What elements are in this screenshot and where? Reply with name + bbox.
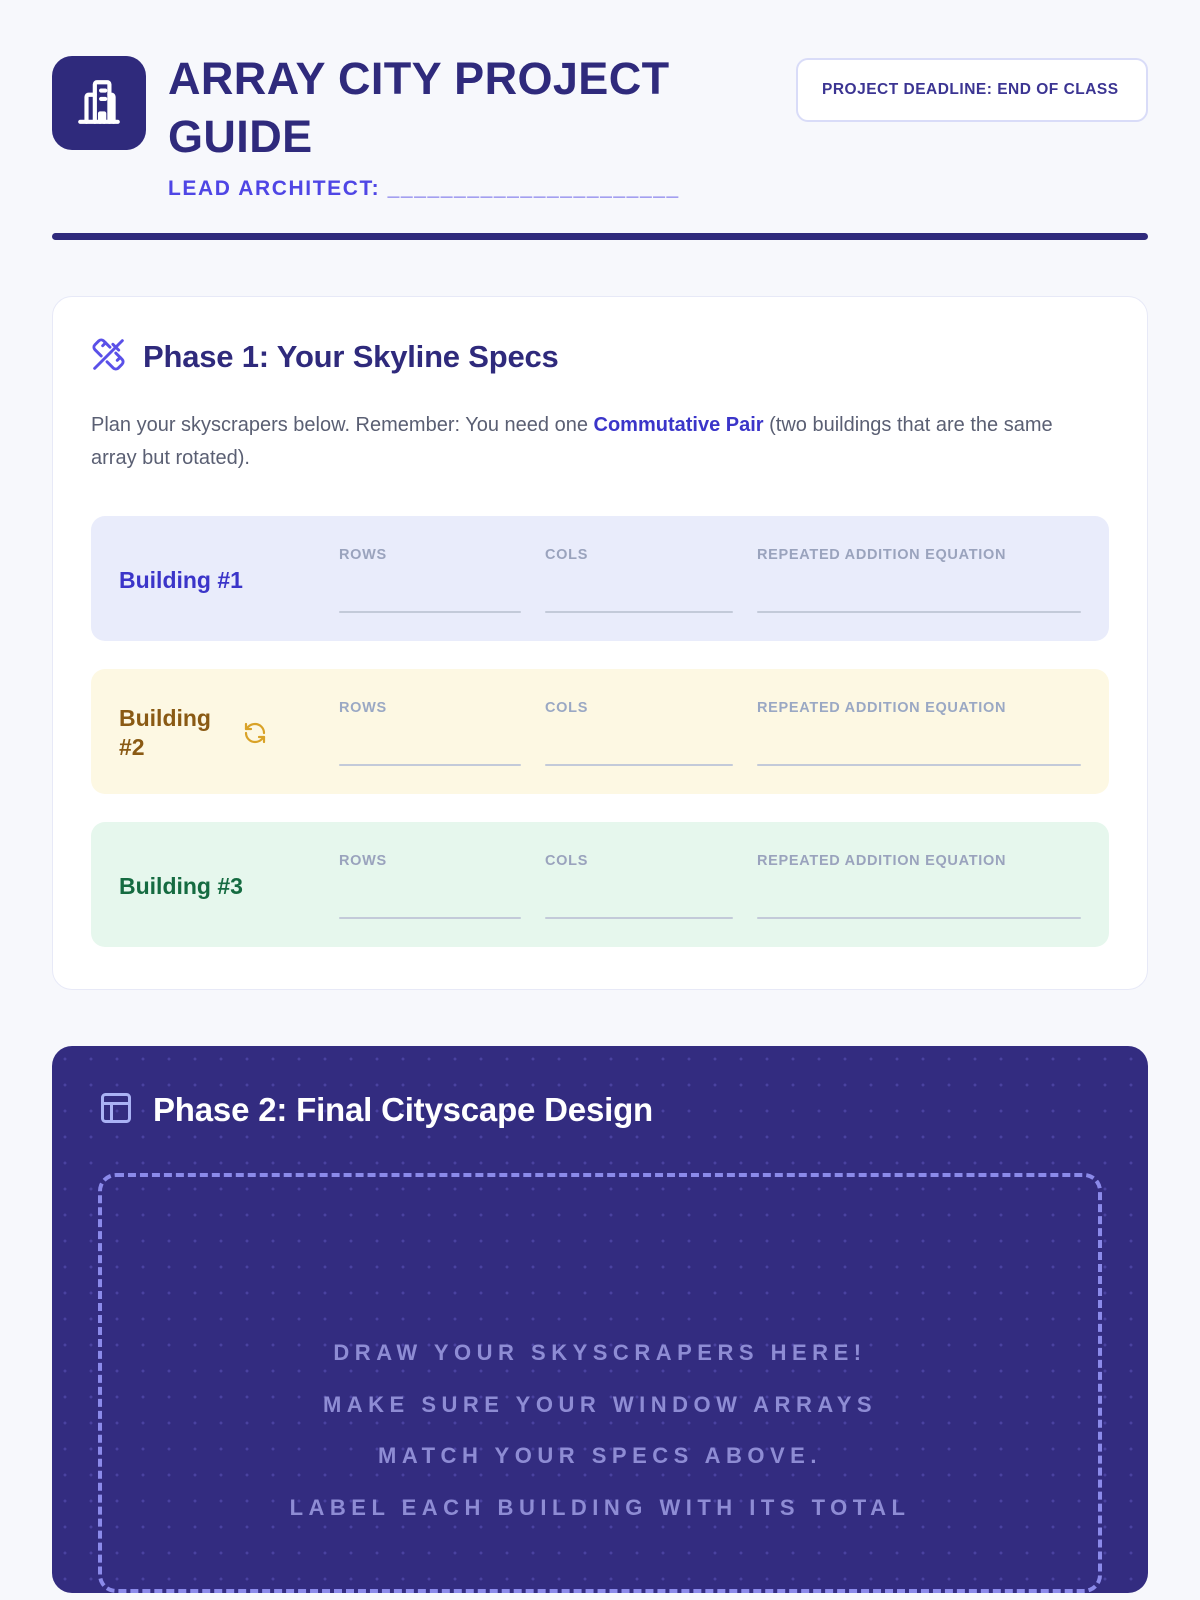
- building-row: Building #3 ROWS COLS REPEATED ADDITION …: [91, 822, 1109, 947]
- cols-input[interactable]: [545, 611, 733, 613]
- equation-label: REPEATED ADDITION EQUATION: [757, 853, 1081, 869]
- building-spec-list: Building #1 ROWS COLS REPEATED ADDITION …: [91, 516, 1109, 947]
- drafting-compass-icon: [91, 337, 126, 377]
- building-name-wrap: Building #1: [119, 566, 339, 596]
- rows-field: ROWS: [339, 547, 521, 613]
- cols-field: COLS: [545, 853, 733, 919]
- rows-label: ROWS: [339, 853, 521, 869]
- building-label: Building #3: [119, 872, 243, 902]
- building-row: Building #2 ROWS: [91, 669, 1109, 794]
- commutative-pair-emphasis: Commutative Pair: [594, 414, 764, 436]
- phase-2-header: Phase 2: Final Cityscape Design: [98, 1090, 1102, 1131]
- cols-input[interactable]: [545, 917, 733, 919]
- phase-1-description: Plan your skyscrapers below. Remember: Y…: [91, 409, 1066, 474]
- page-title: Array City Project Guide: [168, 50, 728, 165]
- cols-input[interactable]: [545, 764, 733, 766]
- refresh-cw-icon[interactable]: [243, 721, 267, 745]
- building-label: Building #2: [119, 704, 229, 764]
- phase-2-title: Phase 2: Final Cityscape Design: [153, 1091, 653, 1129]
- title-block: Array City Project Guide Lead Architect:…: [168, 48, 774, 201]
- drawing-instruction-line: match your specs above.: [142, 1430, 1058, 1482]
- worksheet-page: Array City Project Guide Lead Architect:…: [0, 0, 1200, 1600]
- phase-1-header: Phase 1: Your Skyline Specs: [91, 337, 1109, 377]
- rows-field: ROWS: [339, 700, 521, 766]
- equation-label: REPEATED ADDITION EQUATION: [757, 547, 1081, 563]
- drawing-instruction-line: Label each building with its total: [142, 1482, 1058, 1534]
- drawing-canvas-area[interactable]: Draw your skyscrapers here! Make sure yo…: [98, 1173, 1102, 1593]
- phase-1-card: Phase 1: Your Skyline Specs Plan your sk…: [52, 296, 1148, 990]
- page-header: Array City Project Guide Lead Architect:…: [52, 0, 1148, 201]
- equation-field: REPEATED ADDITION EQUATION: [757, 547, 1081, 613]
- description-part-1: Plan your skyscrapers below. Remember: Y…: [91, 414, 594, 436]
- rows-field: ROWS: [339, 853, 521, 919]
- phase-2-card: Phase 2: Final Cityscape Design Draw you…: [52, 1046, 1148, 1593]
- drawing-instruction-line: Make sure your window arrays: [142, 1379, 1058, 1431]
- equation-field: REPEATED ADDITION EQUATION: [757, 853, 1081, 919]
- equation-label: REPEATED ADDITION EQUATION: [757, 700, 1081, 716]
- drawing-instruction-line: Draw your skyscrapers here!: [142, 1327, 1058, 1379]
- building-fields: ROWS COLS REPEATED ADDITION EQUATION: [339, 547, 1081, 613]
- building-label: Building #1: [119, 566, 243, 596]
- cols-label: COLS: [545, 853, 733, 869]
- deadline-badge: Project Deadline: End of Class: [796, 58, 1148, 122]
- building-name-wrap: Building #2: [119, 704, 339, 764]
- rows-input[interactable]: [339, 917, 521, 919]
- layout-panel-icon: [98, 1090, 134, 1131]
- building-fields: ROWS COLS REPEATED ADDITION EQUATION: [339, 853, 1081, 919]
- building-icon: [74, 76, 124, 131]
- header-divider: [52, 233, 1148, 240]
- building-name-wrap: Building #3: [119, 872, 339, 902]
- logo-badge: [52, 56, 146, 150]
- cols-label: COLS: [545, 547, 733, 563]
- building-fields: ROWS COLS REPEATED ADDITION EQUATION: [339, 700, 1081, 766]
- rows-input[interactable]: [339, 764, 521, 766]
- lead-architect-field[interactable]: Lead Architect: ______________________: [168, 177, 774, 201]
- equation-input[interactable]: [757, 764, 1081, 766]
- cols-field: COLS: [545, 700, 733, 766]
- equation-field: REPEATED ADDITION EQUATION: [757, 700, 1081, 766]
- cols-field: COLS: [545, 547, 733, 613]
- rows-input[interactable]: [339, 611, 521, 613]
- rows-label: ROWS: [339, 547, 521, 563]
- building-row: Building #1 ROWS COLS REPEATED ADDITION …: [91, 516, 1109, 641]
- rows-label: ROWS: [339, 700, 521, 716]
- equation-input[interactable]: [757, 917, 1081, 919]
- phase-1-title: Phase 1: Your Skyline Specs: [143, 339, 559, 375]
- cols-label: COLS: [545, 700, 733, 716]
- equation-input[interactable]: [757, 611, 1081, 613]
